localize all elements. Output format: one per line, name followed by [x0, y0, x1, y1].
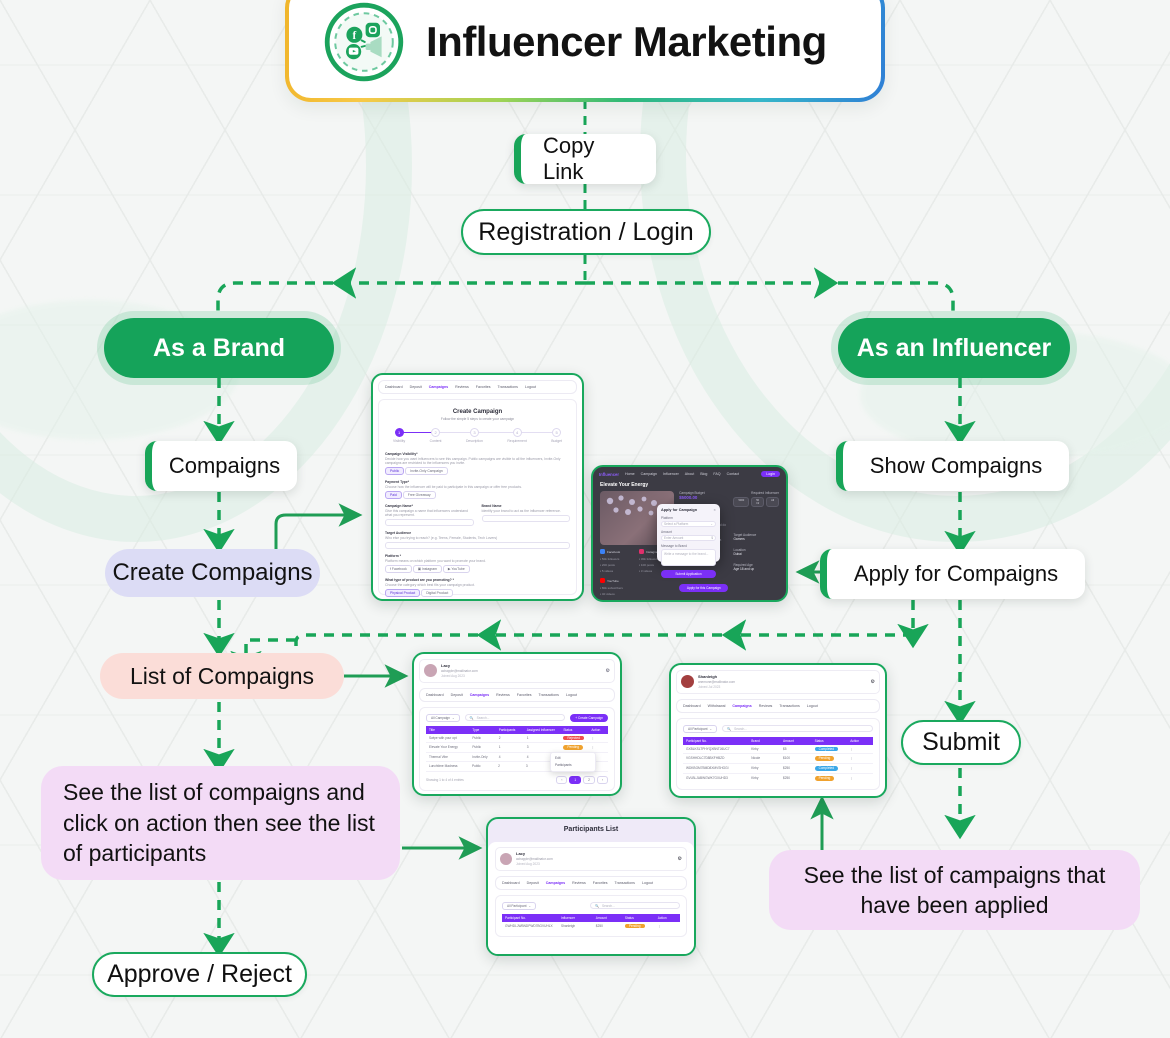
node-copy-link-label: Copy Link [543, 133, 634, 185]
nav-item: Contact [727, 472, 739, 476]
cell-amount: $250 [593, 922, 622, 931]
create-campaign-button[interactable]: + Create Campaign [570, 714, 608, 722]
column-header: Action [847, 737, 873, 745]
step-number: 3 [470, 428, 479, 437]
nav-item: Favorites [593, 881, 608, 885]
input-value: Enter Amount [664, 536, 683, 540]
field-label: Campaign Visibility* [385, 452, 570, 456]
cell-assigned: 1 [524, 734, 561, 743]
nav-item: Withdrawal [708, 704, 726, 708]
action-menu-participants[interactable]: Participants [551, 762, 595, 769]
nav-item: Transactions [539, 693, 559, 697]
field-label: Platform [661, 516, 716, 520]
field-payment-type: Payment Type* Choose how the influencer … [385, 480, 570, 499]
panel-required-age: Required Age Age 18 and up [733, 563, 779, 571]
node-see-applied-note-text: See the list of campaigns that have been… [791, 860, 1118, 921]
facebook-label: Facebook [392, 567, 407, 571]
cell-influencer: Shanleigh [558, 922, 593, 931]
required-chip: All [766, 497, 779, 507]
dark-campaign-title: Elevate Your Energy [600, 482, 779, 488]
required-chip: 5000 [733, 497, 749, 507]
form-subtitle: Follow the simple 5 steps to create your… [385, 417, 570, 421]
cell-type: Public [469, 743, 495, 752]
cell-title: Lunchtime Madness [426, 762, 469, 771]
user-profile-card: Lacy achapple@mailinator.com Joined Aug … [419, 659, 615, 683]
panel-value: Age 18 and up [733, 567, 779, 571]
message-textarea[interactable]: Write a message to the brand... [661, 549, 716, 566]
apply-for-campaign-modal[interactable]: Apply for Campaign ✕ Platform Select a P… [657, 504, 720, 562]
page-1[interactable]: 1 [569, 776, 581, 784]
panel-location: Location Dubai [733, 548, 779, 556]
nav-item: Reviews [759, 704, 773, 708]
nav-item: Deposit [451, 693, 463, 697]
status-badge: Pending [563, 745, 583, 750]
textarea-placeholder: Write a message to the brand... [664, 552, 708, 556]
nav-item-active: Campaigns [546, 881, 565, 885]
brand-campaign-list-screenshot[interactable]: Lacy achapple@mailinator.com Joined Aug … [412, 652, 622, 796]
node-show-compaigns[interactable]: Show Compaigns [836, 441, 1069, 491]
column-header: Influencer [558, 914, 593, 922]
column-header: Status [622, 914, 655, 922]
status-badge: Completed [815, 747, 838, 752]
gear-icon[interactable]: ⚙ [606, 668, 610, 674]
option-paid[interactable]: Paid [385, 491, 402, 499]
nav-item: Logout [525, 385, 536, 389]
field-brand-name: Brand Name Identify your brand to act as… [482, 504, 571, 526]
column-header: Brand [748, 737, 780, 745]
campaign-budget-block: Campaign Budget $5000.00 [679, 491, 728, 500]
table-row[interactable]: WDKBGM7BMD8XMVSHGGI Kirby $250 Completed… [683, 764, 873, 774]
row-action-icon[interactable]: ⋮ [847, 774, 873, 783]
search-input[interactable]: 🔍 Search... [722, 725, 873, 732]
dark-nav[interactable]: Influencer Home Campaign Influencer Abou… [593, 467, 786, 481]
nav-item: Dashboard [385, 385, 403, 389]
brand-name-input[interactable] [482, 515, 571, 522]
diagram-canvas: f Influencer Marketing Copy Link Registr… [0, 0, 1170, 1038]
node-list-of-compaigns-label: List of Compaigns [130, 663, 314, 690]
search-input[interactable]: 🔍 Search... [465, 714, 566, 721]
nav-item: Transactions [779, 704, 799, 708]
cell-participant-no: WDKBGM7BMD8XMVSHGGI [683, 764, 748, 773]
cell-participants: 2 [495, 762, 523, 771]
avatar [681, 675, 694, 688]
field-campaign-name: Campaign Name* Give this campaign a name… [385, 504, 474, 526]
node-create-compaigns[interactable]: Create Compaigns [105, 549, 320, 597]
modal-field-amount: Amount Enter Amount $ [661, 530, 716, 541]
instagram-icon [639, 549, 644, 554]
field-label: Message to Brand [661, 544, 716, 548]
nav-item: About [685, 472, 694, 476]
required-influencer-label: Required Influencer [733, 491, 779, 495]
user-profile-card: Shanleigh anemone@mailinator.com Joined … [676, 670, 880, 694]
step-number: 1 [395, 428, 404, 437]
node-as-an-influencer-label: As an Influencer [857, 334, 1052, 363]
option-youtube[interactable]: ▶ YouTube [443, 565, 470, 573]
nav-item-active: Campaigns [470, 693, 489, 697]
row-action-icon[interactable]: ⋮ [847, 745, 873, 754]
nav-item: Deposit [527, 881, 539, 885]
instagram-label: Instagram [422, 567, 437, 571]
column-header: Title [426, 726, 469, 734]
step-number: 4 [513, 428, 522, 437]
nav-item: Deposit [410, 385, 422, 389]
field-label: Platform * [385, 554, 570, 558]
cell-participant-no: GXBLKSLTPHYQXBNTJ6UC7 [683, 745, 748, 754]
currency-icon: $ [711, 536, 713, 540]
filter-label: All Participant [688, 727, 708, 731]
cell-brand: Nicole [748, 754, 780, 763]
option-physical-product[interactable]: Physical Product [385, 589, 420, 597]
cell-participant-no: VGSHHDLC7D8BXFHBZD [683, 754, 748, 763]
option-digital-product[interactable]: Digital Product [421, 589, 453, 597]
influencer-participation-list-screenshot[interactable]: Shanleigh anemone@mailinator.com Joined … [669, 663, 887, 798]
field-label: Payment Type* [385, 480, 570, 484]
node-see-list-note-text: See the list of compaigns and click on a… [63, 777, 378, 868]
option-invite-only[interactable]: Invite-Only Campaign [405, 467, 448, 475]
panel-target-audience: Target Audience Gamers [733, 533, 779, 541]
influencer-marketing-logo-icon: f [324, 2, 404, 82]
screenshot-nav[interactable]: Dashboard Deposit Campaigns Reviews Favo… [419, 688, 615, 702]
cell-participants: 4 [496, 753, 524, 761]
modal-field-message: Message to Brand Write a message to the … [661, 544, 716, 566]
select-value: Select a Platform [664, 522, 688, 526]
cell-type: Public [469, 734, 495, 743]
campaign-name-input[interactable] [385, 519, 474, 526]
column-header: Participant No. [502, 914, 558, 922]
node-as-an-influencer[interactable]: As an Influencer [838, 318, 1070, 378]
modal-title: Apply for Campaign [661, 508, 697, 512]
nav-item: Dashboard [502, 881, 520, 885]
field-label: Brand Name [482, 504, 571, 508]
nav-item: Reviews [496, 693, 510, 697]
user-meta: Joined Jul 2023 [698, 685, 735, 690]
option-facebook[interactable]: f Facebook [385, 565, 412, 573]
submit-application-button[interactable]: Submit Application [661, 570, 716, 578]
node-apply-for-compaigns[interactable]: Apply for Compaigns [820, 549, 1085, 599]
nav-item: Home [625, 472, 635, 476]
user-meta: Joined Aug 2023 [516, 862, 553, 867]
stepper: 1 Visibility 2 Content 3 Description 4 R… [393, 428, 562, 443]
column-header: Action [655, 914, 680, 922]
table-row[interactable]: VGSHHDLC7D8BXFHBZD Nicole $100 Pending ⋮ [683, 754, 873, 764]
node-apply-for-compaigns-label: Apply for Compaigns [854, 561, 1058, 587]
field-campaign-visibility: Campaign Visibility* Decide how you want… [385, 452, 570, 475]
cell-brand: Kirby [748, 745, 780, 754]
cell-type: Invite-Only [469, 753, 495, 761]
platform-name: YouTube [607, 579, 619, 583]
login-button[interactable]: Login [761, 471, 780, 477]
node-brand-compaigns-label: Compaigns [169, 453, 280, 479]
search-placeholder: Search... [477, 716, 490, 720]
cell-participant-no: GWHDLJWBNDPWD7BGVUHLX [502, 922, 558, 931]
row-action-icon[interactable]: ⋮ [588, 734, 608, 743]
page-header: f Influencer Marketing [285, 0, 885, 102]
cell-amount: $250 [780, 774, 812, 783]
action-menu-edit[interactable]: Edit [551, 755, 595, 762]
field-desc: Choose how the influencer will be paid t… [385, 485, 570, 489]
nav-item: Favorites [517, 693, 532, 697]
cell-title: Thermal Vibe [426, 753, 469, 761]
column-header: Participants [496, 726, 524, 734]
table-header: Participant No. Influencer Amount Status… [502, 914, 680, 922]
cell-amount: $250 [780, 764, 812, 773]
table-footer-count: Showing 1 to 4 of 4 entries [426, 778, 464, 782]
cell-title: Elevate Your Energy [426, 743, 469, 752]
status-badge: Rejected [563, 736, 584, 741]
campaign-filter-dropdown[interactable]: All Campaign⌄ [426, 714, 460, 722]
chevron-down-icon: ⌄ [529, 904, 532, 908]
nav-item-active: Campaigns [732, 704, 751, 708]
participant-filter-dropdown[interactable]: All Participant⌄ [683, 725, 717, 733]
field-platform: Platform * Platform means on which platf… [385, 554, 570, 573]
field-product-type: What type of product are you promoting? … [385, 578, 570, 597]
cell-brand: Kirby [748, 764, 780, 773]
participants-list-screenshot[interactable]: Participants List Lacy achapple@mailinat… [486, 817, 696, 956]
create-campaign-screenshot[interactable]: Dashboard Deposit Campaigns Reviews Favo… [371, 373, 584, 601]
platform-select[interactable]: Select a Platform ⌄ [661, 521, 716, 527]
modal-field-platform: Platform Select a Platform ⌄ [661, 516, 716, 527]
create-campaign-form: Create Campaign Follow the simple 5 step… [378, 399, 577, 595]
table-row[interactable]: GWHDLJWBNDPWD7BGVUHLX Shanleigh $250 Pen… [502, 922, 680, 931]
participant-filter-dropdown[interactable]: All Participant⌄ [502, 902, 536, 910]
field-desc: Platform means on which platform you wan… [385, 559, 570, 563]
chevron-down-icon: ⌄ [452, 716, 455, 720]
column-header: Action [588, 726, 608, 734]
column-header: Amount [780, 737, 812, 745]
step-label: Requirement [507, 439, 526, 443]
nav-item: Logout [642, 881, 653, 885]
table-row[interactable]: GXBLKSLTPHYQXBNTJ6UC7 Kirby $5 Completed… [683, 745, 873, 755]
panel-value: Dubai [733, 552, 779, 556]
field-label: Target Audience [385, 531, 570, 535]
option-free-giveaway[interactable]: Free Giveaway [403, 491, 436, 499]
search-placeholder: Search... [734, 727, 747, 731]
chevron-down-icon: ⌄ [710, 522, 713, 526]
nav-item: Dashboard [426, 693, 444, 697]
node-registration-login[interactable]: Registration / Login [461, 209, 711, 255]
nav-item: Campaign [641, 472, 657, 476]
node-copy-link[interactable]: Copy Link [514, 134, 656, 184]
search-placeholder: Search... [602, 904, 615, 908]
step-label: Visibility [393, 439, 405, 443]
option-public[interactable]: Public [385, 467, 404, 475]
filter-label: All Participant [507, 904, 527, 908]
table-header: Participant No. Brand Amount Status Acti… [683, 737, 873, 745]
search-icon: 🔍 [470, 716, 474, 720]
cell-participants: 2 [496, 734, 524, 743]
step-label: Description [466, 439, 483, 443]
form-title: Create Campaign [385, 409, 570, 415]
node-submit-label: Submit [922, 728, 1000, 757]
gear-icon[interactable]: ⚙ [871, 679, 875, 685]
participants-page-title: Participants List [488, 819, 694, 842]
field-desc: Who else you trying to reach? (e.g. Teen… [385, 536, 570, 540]
field-desc: Decide how you want influencers to see t… [385, 457, 570, 465]
step-label: Content [430, 439, 442, 443]
node-brand-compaigns[interactable]: Compaigns [145, 441, 297, 491]
budget-value: $5000.00 [679, 495, 728, 500]
nav-item: Favorites [476, 385, 491, 389]
column-header: Type [469, 726, 495, 734]
nav-item: FAQ [713, 472, 720, 476]
table-row[interactable]: Swipe with your opt Public 2 1 Rejected … [426, 734, 608, 744]
nav-item: Logout [566, 693, 577, 697]
apply-for-campaign-button[interactable]: Apply for this Campaign [679, 584, 728, 592]
node-submit[interactable]: Submit [901, 720, 1021, 765]
nav-item: Dashboard [683, 704, 701, 708]
status-badge: Pending [625, 924, 645, 929]
search-input[interactable]: 🔍 Search... [590, 902, 680, 909]
column-header: Status [560, 726, 588, 734]
page-2[interactable]: 2 [583, 776, 595, 784]
step-number: 5 [552, 428, 561, 437]
row-action-icon[interactable]: ⋮ [588, 743, 608, 752]
node-list-of-compaigns[interactable]: List of Compaigns [100, 653, 344, 699]
svg-text:f: f [353, 30, 357, 42]
node-as-a-brand[interactable]: As a Brand [104, 318, 334, 378]
gear-icon[interactable]: ⚙ [678, 856, 682, 862]
search-icon: 🔍 [595, 904, 599, 908]
column-header: Participant No. [683, 737, 748, 745]
field-label: Amount [661, 530, 716, 534]
cell-amount: $100 [780, 754, 812, 763]
platform-block-facebook: Facebook ▪ 50k followers▪ 200 posts▪ 5 v… [600, 549, 635, 574]
node-see-list-of-compaigns-note: See the list of compaigns and click on a… [41, 766, 400, 880]
nav-item: Reviews [455, 385, 469, 389]
status-badge: Pending [815, 756, 835, 761]
table-header: Title Type Participants Assigned Influen… [426, 726, 608, 734]
page-title: Influencer Marketing [426, 18, 827, 66]
field-label: Campaign Name* [385, 504, 474, 508]
column-header: Amount [593, 914, 622, 922]
panel-value: Gamers [733, 537, 779, 541]
nav-item: Blog [700, 472, 707, 476]
column-header: Assigned Influencer [524, 726, 561, 734]
pagination[interactable]: ‹ 1 2 › [556, 776, 608, 784]
row-action-icon[interactable]: ⋮ [655, 922, 680, 931]
cell-assigned: 3 [524, 743, 561, 752]
chevron-down-icon: ⌄ [710, 727, 713, 731]
node-registration-login-label: Registration / Login [478, 218, 693, 247]
status-badge: Pending [815, 776, 835, 781]
cell-participants: 1 [496, 743, 524, 752]
node-show-compaigns-label: Show Compaigns [870, 453, 1042, 479]
cell-title: Swipe with your opt [426, 734, 469, 743]
nav-item: Reviews [572, 881, 586, 885]
field-desc: Identify your brand to act as the influe… [482, 509, 571, 513]
nav-item: Logout [807, 704, 818, 708]
platform-name: Facebook [607, 550, 620, 554]
page-next[interactable]: › [597, 776, 608, 784]
cell-amount: $5 [780, 745, 812, 754]
option-instagram[interactable]: ▣ Instagram [413, 565, 442, 573]
avatar [424, 664, 437, 677]
cell-brand: Kirby [748, 774, 780, 783]
step-number: 2 [431, 428, 440, 437]
youtube-icon [600, 578, 605, 583]
table-row[interactable]: GVLBLJABWGWK7GXUHD3 Kirby $250 Pending ⋮ [683, 774, 873, 783]
page-prev[interactable]: ‹ [556, 776, 567, 784]
field-desc: Choose the category which best fits your… [385, 583, 570, 587]
avatar [500, 853, 512, 865]
target-audience-input[interactable] [385, 542, 570, 549]
node-approve-reject[interactable]: Approve / Reject [92, 952, 307, 997]
node-as-a-brand-label: As a Brand [153, 334, 285, 363]
user-meta: Joined Aug 2023 [441, 674, 478, 679]
close-icon[interactable]: ✕ [713, 508, 716, 512]
platform-block-youtube: YouTube ▪ 80k subscribers▪ 40 videos [600, 578, 674, 597]
node-approve-reject-label: Approve / Reject [107, 960, 292, 989]
nav-item: Transactions [498, 385, 518, 389]
user-profile-card: Lacy achapple@mailinator.com Joined Aug … [495, 847, 687, 871]
amount-input[interactable]: Enter Amount $ [661, 535, 716, 541]
column-header: Status [812, 737, 848, 745]
node-create-compaigns-label: Create Compaigns [112, 559, 312, 587]
row-action-icon[interactable]: ⋮ [847, 764, 873, 773]
field-label: What type of product are you promoting? … [385, 578, 570, 582]
nav-item: Influencer [663, 472, 679, 476]
required-chip: 50 Inf [751, 497, 764, 507]
facebook-icon [600, 549, 605, 554]
nav-item: Transactions [615, 881, 635, 885]
filter-label: All Campaign [431, 716, 450, 720]
youtube-label: YouTube [451, 567, 464, 571]
field-target-audience: Target Audience Who else you trying to r… [385, 531, 570, 549]
status-badge: Completed [815, 766, 838, 771]
row-action-icon[interactable]: ⋮ [847, 754, 873, 763]
screenshot-nav[interactable]: Dashboard Deposit Campaigns Reviews Favo… [495, 876, 687, 890]
row-action-menu[interactable]: Edit Participants [550, 752, 596, 772]
cell-type: Public [469, 762, 495, 771]
nav-item-active: Campaigns [429, 385, 448, 389]
search-icon: 🔍 [727, 727, 731, 731]
field-desc: Give this campaign a name that influence… [385, 509, 474, 517]
screenshot-nav[interactable]: Dashboard Withdrawal Campaigns Reviews T… [676, 699, 880, 713]
brand-logo: Influencer [599, 472, 619, 477]
cell-participant-no: GVLBLJABWGWK7GXUHD3 [683, 774, 748, 783]
node-see-applied-campaigns-note: See the list of campaigns that have been… [769, 850, 1140, 930]
campaign-detail-apply-screenshot[interactable]: Influencer Home Campaign Influencer Abou… [591, 465, 788, 602]
screenshot-nav[interactable]: Dashboard Deposit Campaigns Reviews Favo… [378, 380, 577, 394]
step-label: Budget [551, 439, 562, 443]
